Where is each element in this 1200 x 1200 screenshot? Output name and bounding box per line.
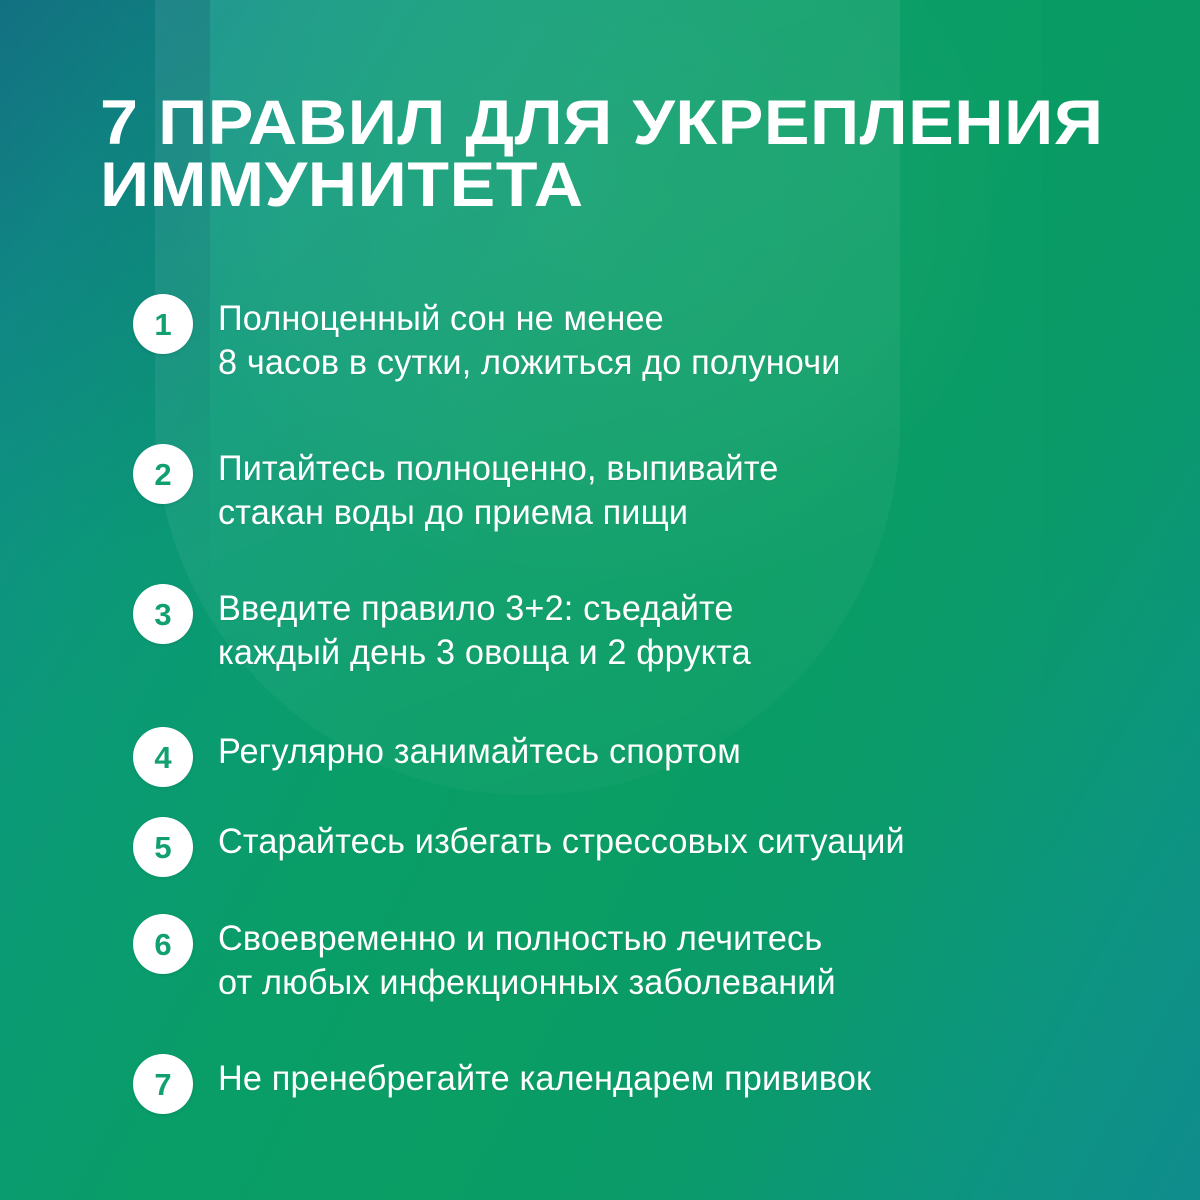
rule-text: Питайтесь полноценно, выпивайте стакан в… bbox=[218, 442, 778, 534]
rule-item-4: 4Регулярно занимайтесь спортом bbox=[133, 725, 760, 787]
rule-text: Полноценный сон не менее 8 часов в сутки… bbox=[218, 292, 841, 384]
rule-number-badge: 1 bbox=[133, 294, 193, 354]
rule-item-7: 7Не пренебрегайте календарем прививок bbox=[133, 1052, 895, 1114]
rule-item-5: 5Старайтесь избегать стрессовых ситуаций bbox=[133, 815, 930, 877]
rule-text: Своевременно и полностью лечитесь от люб… bbox=[218, 912, 836, 1004]
rule-item-1: 1Полноценный сон не менее 8 часов в сутк… bbox=[133, 292, 863, 384]
rule-text: Не пренебрегайте календарем прививок bbox=[218, 1052, 871, 1100]
rule-number-badge: 5 bbox=[133, 817, 193, 877]
rule-number-badge: 2 bbox=[133, 444, 193, 504]
rule-number-badge: 3 bbox=[133, 584, 193, 644]
rule-text: Введите правило 3+2: съедайте каждый ден… bbox=[218, 582, 751, 674]
poster-canvas: 7 правил для укрепления иммунитета 1Полн… bbox=[0, 0, 1200, 1200]
poster-content: 7 правил для укрепления иммунитета 1Полн… bbox=[0, 0, 1200, 1200]
page-title: 7 правил для укрепления иммунитета bbox=[100, 92, 1196, 217]
rule-item-2: 2Питайтесь полноценно, выпивайте стакан … bbox=[133, 442, 799, 534]
rule-text: Регулярно занимайтесь спортом bbox=[218, 725, 741, 773]
rule-number-badge: 4 bbox=[133, 727, 193, 787]
rule-item-6: 6Своевременно и полностью лечитесь от лю… bbox=[133, 912, 858, 1004]
rule-text: Старайтесь избегать стрессовых ситуаций bbox=[218, 815, 905, 863]
rule-item-3: 3Введите правило 3+2: съедайте каждый де… bbox=[133, 582, 770, 674]
rule-number-badge: 6 bbox=[133, 914, 193, 974]
rule-number-badge: 7 bbox=[133, 1054, 193, 1114]
